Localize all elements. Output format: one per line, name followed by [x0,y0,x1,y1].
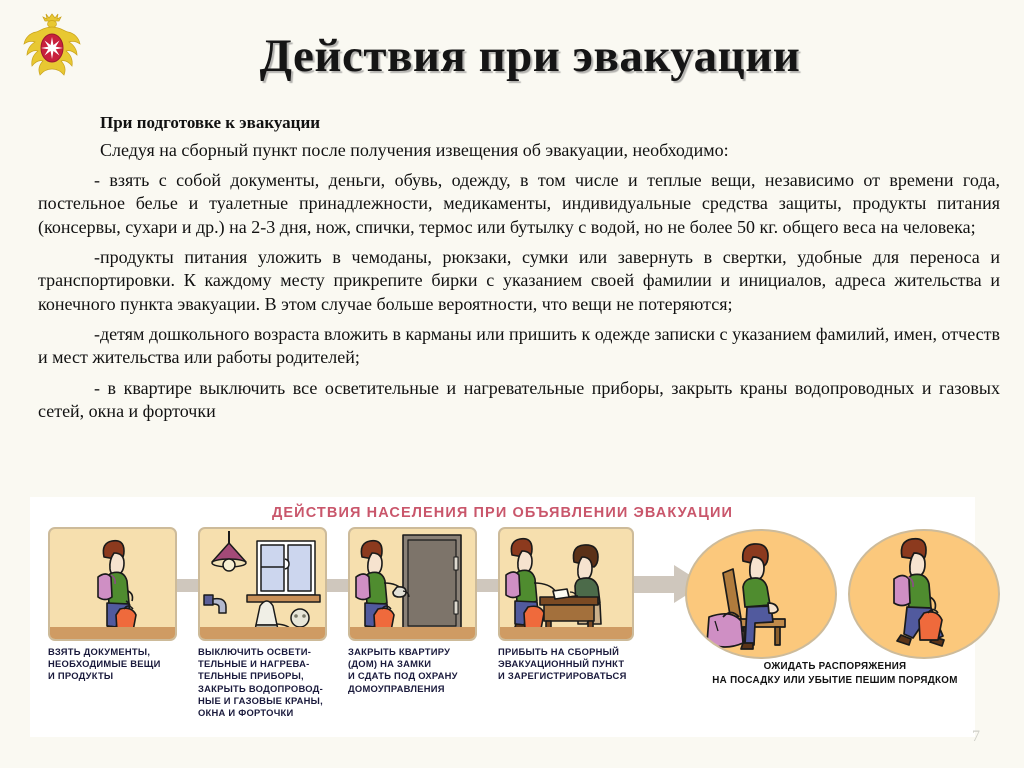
panel-depart-on-foot [848,529,1000,659]
page-number: 7 [972,728,980,746]
page-title: Действия при эвакуации [150,32,910,81]
scene-person-walking-on-foot [848,529,1000,659]
paragraph-children-notes: -детям дошкольного возраста вложить в ка… [38,323,1000,370]
panel-register-at-assembly-point: ПРИБЫТЬ НА СБОРНЫЙ ЭВАКУАЦИОННЫЙ ПУНКТ И… [498,527,640,683]
panel-caption: ВЫКЛЮЧИТЬ ОСВЕТИ- ТЕЛЬНЫЕ И НАГРЕВА- ТЕЛ… [198,646,340,719]
paragraph-packing-and-tags: -продукты питания уложить в чемоданы, рю… [38,246,1000,316]
paragraph-apartment-shutdown: - в квартире выключить все осветительные… [38,377,1000,424]
panel-caption: ПРИБЫТЬ НА СБОРНЫЙ ЭВАКУАЦИОННЫЙ ПУНКТ И… [498,646,640,683]
panel-take-documents: ВЗЯТЬ ДОКУМЕНТЫ, НЕОБХОДИМЫЕ ВЕЩИ И ПРОД… [48,527,190,683]
floor-strip [350,627,475,639]
scene-person-waiting-seated-on-bench [685,529,837,659]
circles-caption: ОЖИДАТЬ РАСПОРЯЖЕНИЯ НА ПОСАДКУ ИЛИ УБЫТ… [670,660,1000,688]
scene-room-lamp-window-iron-faucet [198,527,327,641]
illustration-banner: ДЕЙСТВИЯ НАСЕЛЕНИЯ ПРИ ОБЪЯВЛЕНИИ ЭВАКУА… [30,505,975,521]
illustration-panels: ВЗЯТЬ ДОКУМЕНТЫ, НЕОБХОДИМЫЕ ВЕЩИ И ПРОД… [30,527,975,732]
paragraph-items-to-take: - взять с собой документы, деньги, обувь… [38,169,1000,239]
scene-registration-at-assembly-point-desk [498,527,634,641]
illustration-card: ДЕЙСТВИЯ НАСЕЛЕНИЯ ПРИ ОБЪЯВЛЕНИИ ЭВАКУА… [30,497,975,737]
floor-strip [500,627,632,639]
panel-caption: ЗАКРЫТЬ КВАРТИРУ (ДОМ) НА ЗАМКИ И СДАТЬ … [348,646,490,695]
emchs-double-eagle-emblem [20,8,84,88]
lead-line: Следуя на сборный пункт после получения … [100,139,1000,162]
floor-strip [50,627,175,639]
lead-heading: При подготовке к эвакуации [100,112,1000,133]
panel-caption: ВЗЯТЬ ДОКУМЕНТЫ, НЕОБХОДИМЫЕ ВЕЩИ И ПРОД… [48,646,190,683]
panel-turn-off-appliances: ВЫКЛЮЧИТЬ ОСВЕТИ- ТЕЛЬНЫЕ И НАГРЕВА- ТЕЛ… [198,527,340,719]
floor-strip [200,627,325,639]
panel-wait-seated [685,529,837,659]
panel-lock-apartment: ЗАКРЫТЬ КВАРТИРУ (ДОМ) НА ЗАМКИ И СДАТЬ … [348,527,490,695]
scene-person-with-backpack-and-bag [48,527,177,641]
scene-person-locking-apartment-door [348,527,477,641]
body-copy: При подготовке к эвакуации Следуя на сбо… [38,112,1000,430]
